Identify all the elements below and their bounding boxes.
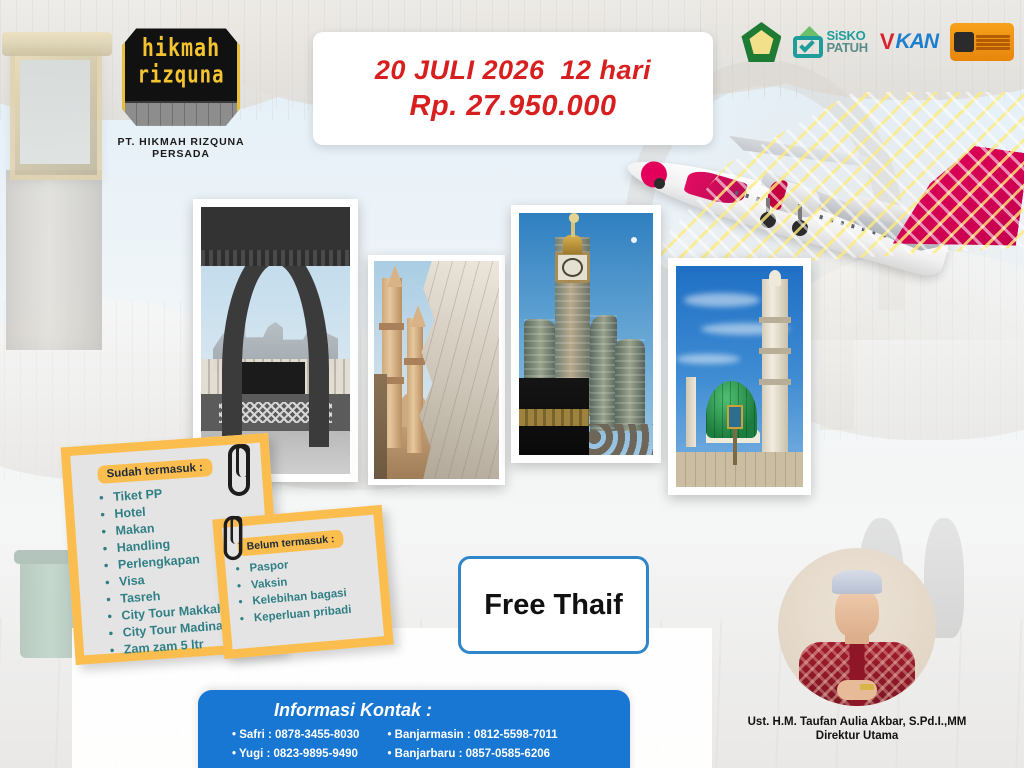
avatar	[778, 548, 936, 706]
excluded-heading: Belum termasuk :	[237, 529, 344, 556]
contact-item[interactable]: Safri : 0878-3455-8030	[232, 726, 359, 745]
director-name: Ust. H.M. Taufan Aulia Akbar, S.Pd.I.,MM	[742, 715, 972, 730]
excluded-items-list: Paspor Vaksin Kelebihan bagasi Keperluan…	[225, 549, 382, 628]
kaaba-base	[125, 101, 237, 127]
photo-makkah-clock-tower	[511, 205, 661, 463]
contact-info-panel: Informasi Kontak : Safri : 0878-3455-803…	[198, 690, 630, 768]
kemenag-badge-icon	[741, 22, 781, 62]
contact-item[interactable]: Banjarbaru : 0857-0585-6206	[387, 745, 557, 764]
paperclip-icon	[224, 516, 243, 560]
poster-canvas: hikmah rizquna PT. HIKMAH RIZQUNA PERSAD…	[0, 0, 1024, 768]
departure-date-duration: 20 JULI 2026 12 hari	[375, 55, 651, 86]
kan-checkmark: V	[880, 31, 895, 53]
kaaba-logo-icon: hikmah rizquna	[122, 22, 240, 130]
contact-item[interactable]: Banjarmasin : 0812-5598-7011	[387, 726, 557, 745]
company-legal-name: PT. HIKMAH RIZQUNA PERSADA	[96, 136, 266, 160]
contact-title: Informasi Kontak :	[274, 700, 630, 721]
photo-nabawi-minarets	[368, 255, 505, 485]
siskopatuh-label-bottom: PATUH	[826, 42, 867, 54]
included-heading: Sudah termasuk :	[97, 458, 212, 484]
siskopatuh-badge-icon: SiSKO PATUH	[793, 23, 867, 61]
photo-green-dome	[668, 258, 811, 495]
contact-column-left: Safri : 0878-3455-8030 Yugi : 0823-9895-…	[232, 726, 359, 764]
contact-item[interactable]: Yugi : 0823-9895-9490	[232, 745, 359, 764]
kan-badge-icon: V KAN	[880, 23, 938, 61]
company-logo: hikmah rizquna PT. HIKMAH RIZQUNA PERSAD…	[96, 22, 266, 160]
package-price: Rp. 27.950.000	[410, 90, 617, 123]
kan-label: KAN	[896, 30, 939, 54]
logo-text-line1: hikmah	[142, 35, 220, 60]
director-role: Direktur Utama	[742, 730, 972, 742]
free-thaif-badge: Free Thaif	[458, 556, 649, 654]
paperclip-icon	[228, 444, 250, 496]
accreditation-badge-icon	[950, 23, 1014, 61]
logo-text-line2: rizquna	[137, 64, 224, 88]
batik-air-airplane-icon	[610, 92, 1024, 272]
director-profile: Ust. H.M. Taufan Aulia Akbar, S.Pd.I.,MM…	[742, 548, 972, 742]
contact-column-right: Banjarmasin : 0812-5598-7011 Banjarbaru …	[387, 726, 557, 764]
certification-badges: SiSKO PATUH V KAN	[741, 22, 1014, 62]
